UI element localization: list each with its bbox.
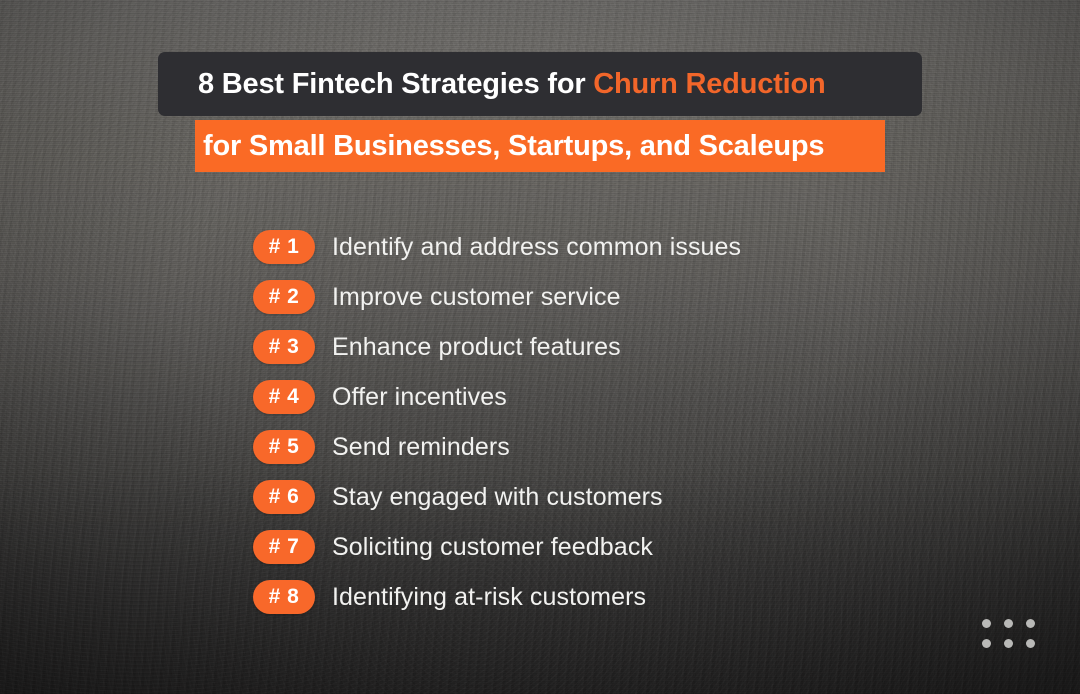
headline-line-1-accent: Churn Reduction [593, 68, 825, 100]
list-item-label: Identifying at-risk customers [332, 583, 646, 612]
poster-canvas: 8 Best Fintech Strategies for Churn Redu… [0, 0, 1080, 694]
list-item-badge: # 7 [253, 530, 315, 564]
headline-line-1-plain: 8 Best Fintech Strategies for [198, 68, 593, 100]
list-item: # 6 Stay engaged with customers [253, 480, 741, 514]
list-item: # 5 Send reminders [253, 430, 741, 464]
dot [1026, 619, 1035, 628]
list-item: # 2 Improve customer service [253, 280, 741, 314]
list-item: # 4 Offer incentives [253, 380, 741, 414]
list-item-badge: # 5 [253, 430, 315, 464]
headline-bar-secondary: for Small Businesses, Startups, and Scal… [195, 120, 885, 172]
dot [1026, 639, 1035, 648]
headline-line-1: 8 Best Fintech Strategies for Churn Redu… [198, 68, 825, 101]
list-item: # 1 Identify and address common issues [253, 230, 741, 264]
list-item: # 3 Enhance product features [253, 330, 741, 364]
list-item-badge: # 2 [253, 280, 315, 314]
strategy-list: # 1 Identify and address common issues #… [253, 230, 741, 614]
list-item-badge: # 4 [253, 380, 315, 414]
list-item-badge: # 8 [253, 580, 315, 614]
dot [1004, 619, 1013, 628]
list-item-label: Enhance product features [332, 333, 621, 362]
dot [982, 639, 991, 648]
list-item-badge: # 1 [253, 230, 315, 264]
list-item-badge: # 3 [253, 330, 315, 364]
headline-bar-primary: 8 Best Fintech Strategies for Churn Redu… [158, 52, 922, 116]
dot-grid-icon [982, 619, 1035, 648]
list-item-badge: # 6 [253, 480, 315, 514]
list-item-label: Send reminders [332, 433, 510, 462]
list-item: # 7 Soliciting customer feedback [253, 530, 741, 564]
list-item-label: Stay engaged with customers [332, 483, 663, 512]
list-item: # 8 Identifying at-risk customers [253, 580, 741, 614]
list-item-label: Soliciting customer feedback [332, 533, 653, 562]
dot [1004, 639, 1013, 648]
list-item-label: Offer incentives [332, 383, 507, 412]
headline-line-2: for Small Businesses, Startups, and Scal… [203, 130, 824, 163]
list-item-label: Improve customer service [332, 283, 621, 312]
list-item-label: Identify and address common issues [332, 233, 741, 262]
dot [982, 619, 991, 628]
